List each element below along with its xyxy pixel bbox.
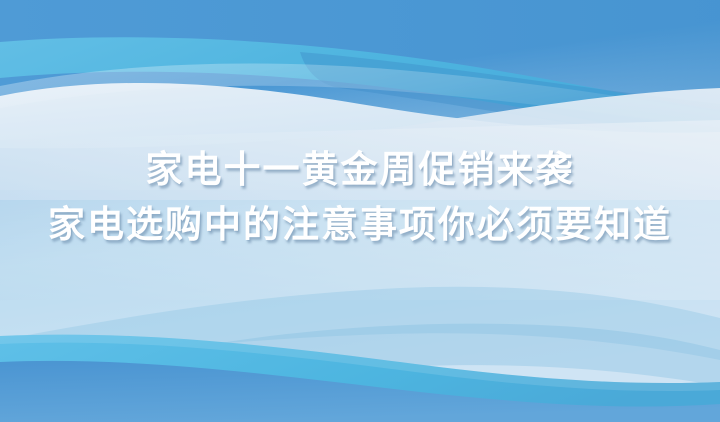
top-wave-translucent xyxy=(0,63,720,128)
headline-block: 家电十一黄金周促销来袭 家电选购中的注意事项你必须要知道 xyxy=(0,148,720,246)
bottom-wave-soft-arc-2 xyxy=(110,324,720,396)
bottom-wave-soft-arc xyxy=(0,287,720,368)
top-wave-deep-blue xyxy=(300,52,720,146)
bottom-wave-cyan xyxy=(0,335,720,422)
headline-line-2: 家电选购中的注意事项你必须要知道 xyxy=(0,203,720,247)
promo-banner: 家电十一黄金周促销来袭 家电选购中的注意事项你必须要知道 xyxy=(0,0,720,422)
bottom-wave-deep-blue xyxy=(0,361,720,422)
top-wave-cyan-main xyxy=(0,37,720,146)
bottom-wave-highlight xyxy=(0,335,720,391)
headline-line-1: 家电十一黄金周促销来袭 xyxy=(0,148,720,192)
